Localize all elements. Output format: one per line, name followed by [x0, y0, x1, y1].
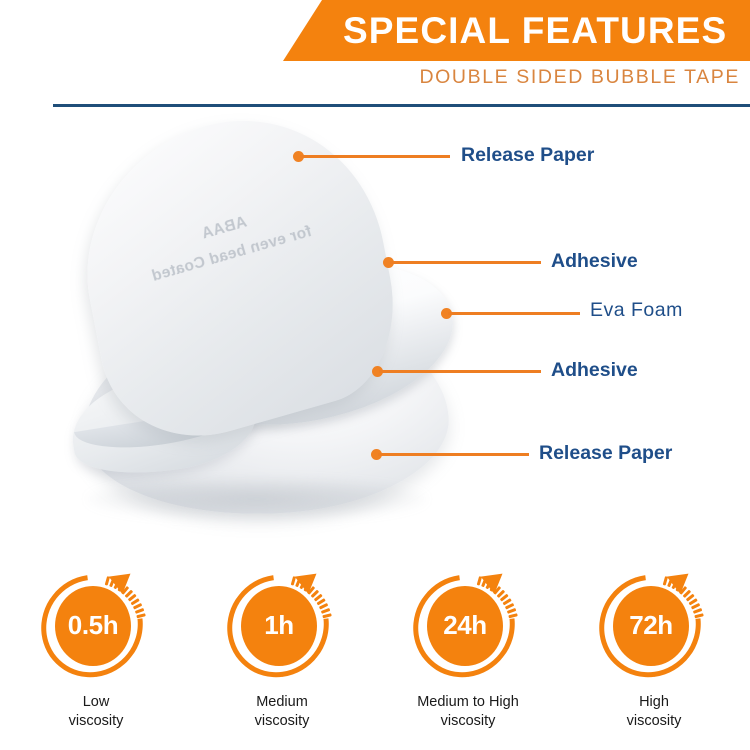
callout-label-release-paper-top: Release Paper — [461, 146, 594, 166]
viscosity-caption: Medium to High viscosity — [417, 693, 519, 731]
viscosity-badge-0: 0.5h Low viscosity — [26, 572, 166, 731]
callout-group: Release Paper Adhesive Eva Foam Adhesive… — [0, 0, 750, 560]
timer-value: 24h — [443, 612, 487, 638]
timer-core: 1h — [241, 586, 317, 666]
callout-label-adhesive-bottom: Adhesive — [551, 361, 638, 381]
callout-label-adhesive-top: Adhesive — [551, 252, 638, 272]
timer-icon: 0.5h — [40, 572, 152, 684]
viscosity-caption: Low viscosity — [69, 693, 124, 731]
callout-line-adhesive-bottom — [379, 370, 541, 373]
timer-value: 72h — [629, 612, 673, 638]
timer-core: 0.5h — [55, 586, 131, 666]
viscosity-badge-3: 72h High viscosity — [584, 572, 724, 731]
timer-value: 1h — [264, 612, 294, 638]
callout-line-release-paper-top — [300, 155, 450, 158]
timer-core: 24h — [427, 586, 503, 666]
callout-label-eva-foam: Eva Foam — [590, 301, 683, 321]
viscosity-badge-2: 24h Medium to High viscosity — [398, 572, 538, 731]
viscosity-caption: Medium viscosity — [255, 693, 310, 731]
callout-line-release-paper-bottom — [378, 453, 529, 456]
timer-icon: 24h — [412, 572, 524, 684]
viscosity-caption: High viscosity — [627, 693, 682, 731]
timer-value: 0.5h — [68, 612, 118, 638]
callout-line-eva-foam — [448, 312, 580, 315]
callout-line-adhesive-top — [390, 261, 541, 264]
timer-core: 72h — [613, 586, 689, 666]
viscosity-badge-row: 0.5h Low viscosity 1h Medium viscosity 2… — [0, 572, 750, 750]
callout-label-release-paper-bottom: Release Paper — [539, 444, 672, 464]
timer-icon: 1h — [226, 572, 338, 684]
viscosity-badge-1: 1h Medium viscosity — [212, 572, 352, 731]
timer-icon: 72h — [598, 572, 710, 684]
